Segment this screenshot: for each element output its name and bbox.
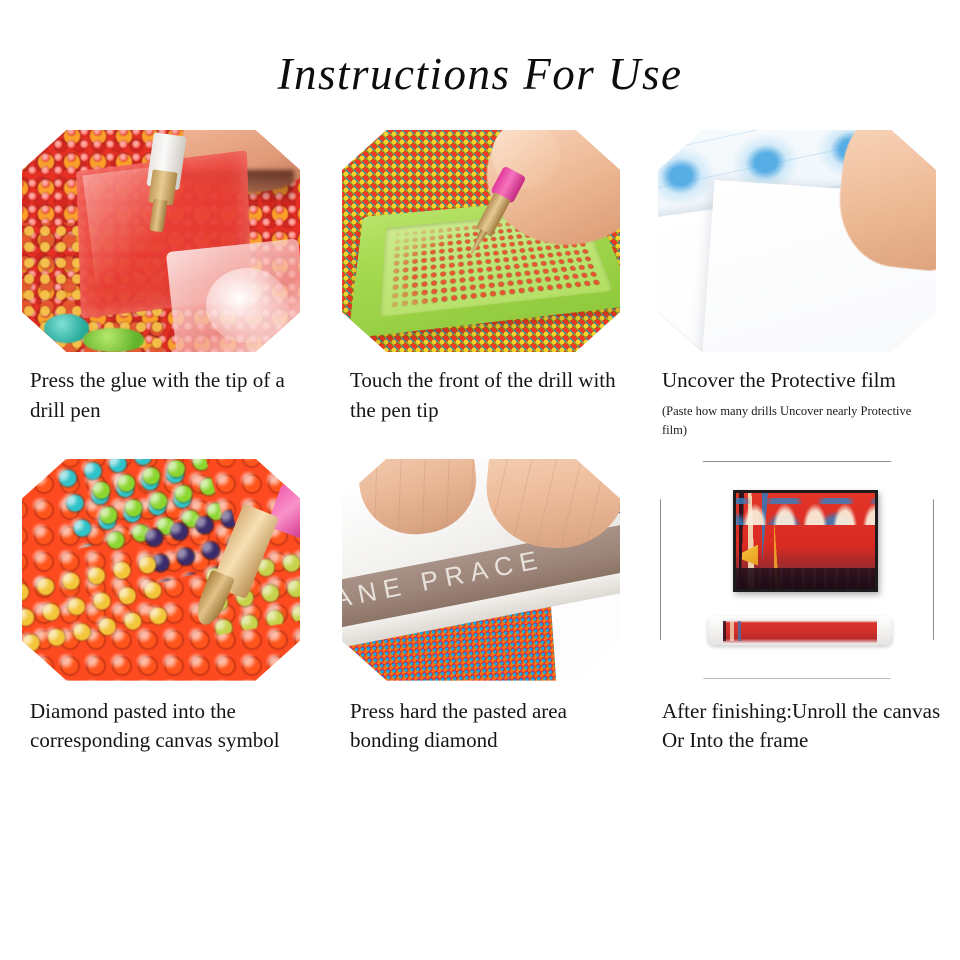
roll-end-right xyxy=(877,616,892,645)
step-1-caption: Press the glue with the tip of a drill p… xyxy=(22,366,320,426)
plastic-bag-highlight xyxy=(206,268,289,343)
step-3-caption: Uncover the Protective film (Paste how m… xyxy=(658,366,952,441)
pen-tip xyxy=(191,570,234,629)
step-6-caption: After finishing:Unroll the canvas Or Int… xyxy=(658,697,952,757)
press-glue-with-drill-pen-photo xyxy=(22,130,300,352)
step-5-caption: Press hard the pasted area bonding diamo… xyxy=(342,697,640,757)
artwork-foreground xyxy=(736,568,875,589)
green-bead-cluster xyxy=(83,328,144,352)
touch-front-of-drill-with-pen-tip-photo xyxy=(342,130,620,352)
roll-end-left xyxy=(708,616,723,645)
instruction-steps-grid: Press the glue with the tip of a drill p… xyxy=(0,130,960,756)
step-2-cell: Touch the front of the drill with the pe… xyxy=(320,130,640,441)
rolled-canvas-print xyxy=(721,621,879,641)
step-4-caption: Diamond pasted into the corresponding ca… xyxy=(22,697,320,757)
step-3-cell: Uncover the Protective film (Paste how m… xyxy=(640,130,960,441)
artwork-image xyxy=(736,493,875,589)
step-2-caption: Touch the front of the drill with the pe… xyxy=(342,366,640,426)
step-6-cell: After finishing:Unroll the canvas Or Int… xyxy=(640,459,960,757)
pen-tip xyxy=(149,200,168,233)
press-hard-pasted-area-photo: ANE PRACE 2019 S xyxy=(342,459,620,681)
artwork-vessels xyxy=(736,498,875,525)
step-4-cell: Diamond pasted into the corresponding ca… xyxy=(0,459,320,757)
rolled-canvas xyxy=(708,616,891,645)
pen-tip xyxy=(467,228,487,256)
teal-bead xyxy=(44,314,88,343)
framed-artwork xyxy=(733,490,878,592)
page-title: Instructions For Use xyxy=(0,0,960,97)
step-1-cell: Press the glue with the tip of a drill p… xyxy=(0,130,320,441)
step-row-top: Press the glue with the tip of a drill p… xyxy=(0,130,960,441)
diamond-pasted-into-canvas-symbol-photo xyxy=(22,459,300,681)
uncover-protective-film-photo xyxy=(658,130,936,352)
finished-canvas-unroll-or-frame-illustration xyxy=(658,459,936,681)
step-3-caption-text: Uncover the Protective film xyxy=(662,368,896,392)
step-5-cell: ANE PRACE 2019 S Press hard the pasted a… xyxy=(320,459,640,757)
step-row-bottom: Diamond pasted into the corresponding ca… xyxy=(0,459,960,757)
step-3-caption-note: (Paste how many drills Uncover nearly Pr… xyxy=(662,402,912,441)
